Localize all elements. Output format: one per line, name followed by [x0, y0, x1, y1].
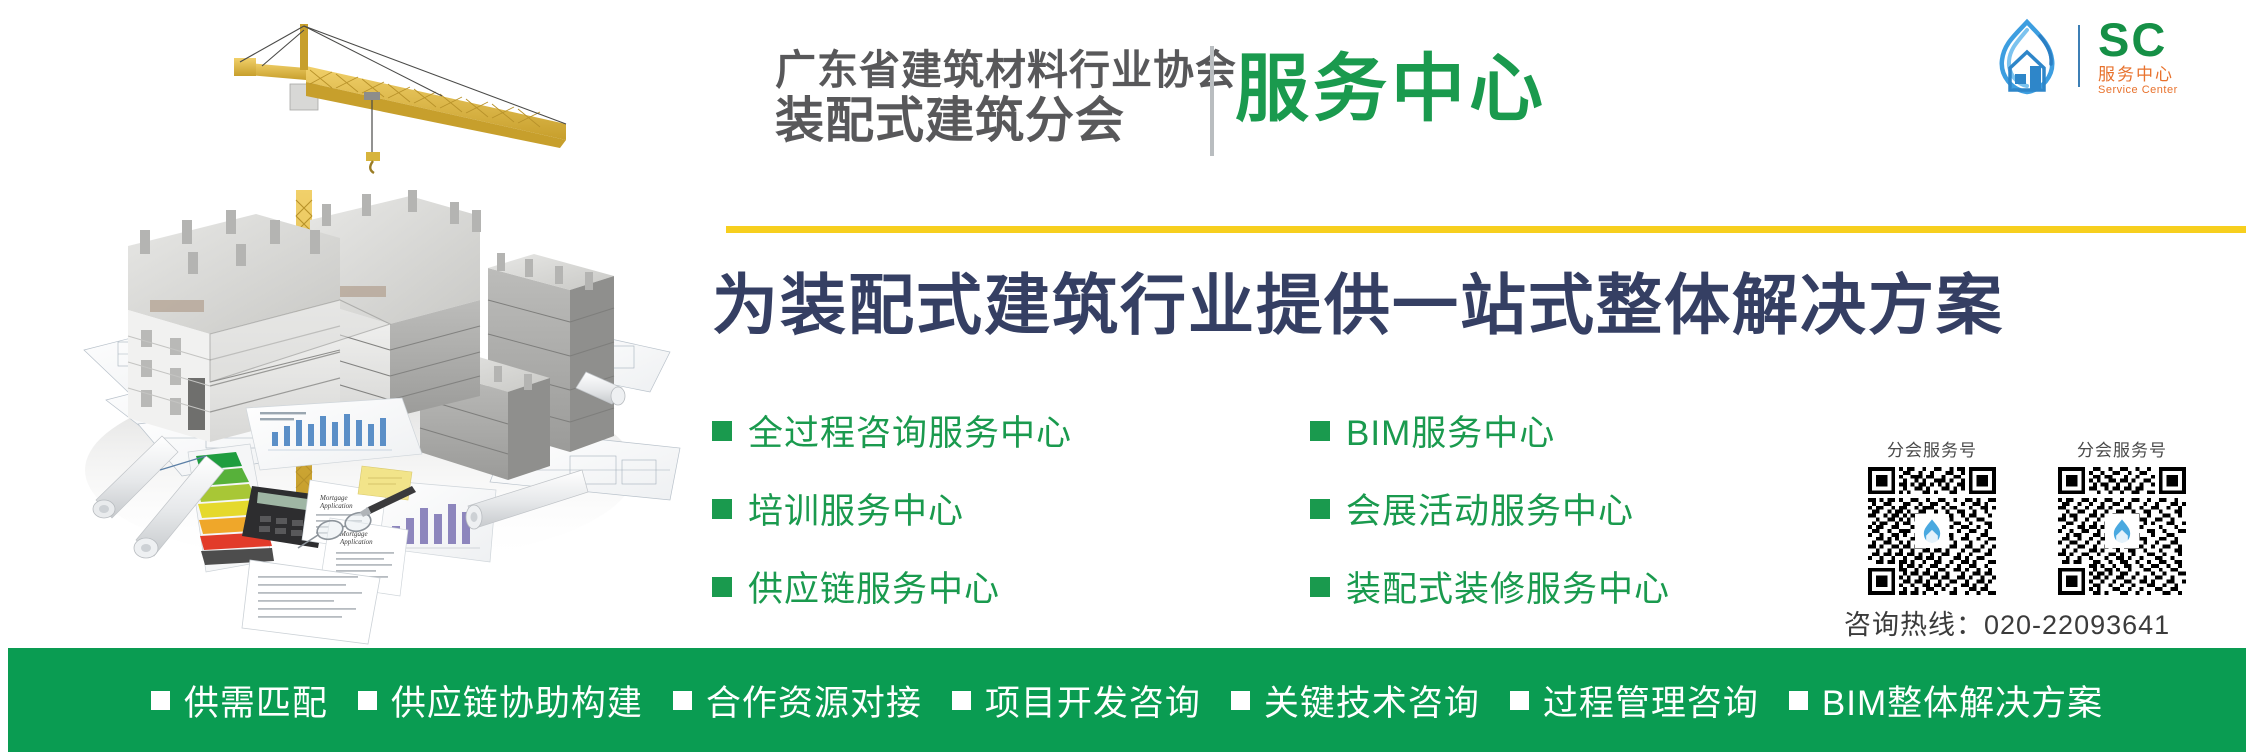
list-item[interactable]: 全过程咨询服务中心 — [712, 405, 1130, 456]
logo-vertical-divider — [2078, 25, 2080, 87]
association-branch-line-2: 装配式建筑分会 — [775, 95, 1185, 148]
service-center-title: 服务中心 — [1235, 48, 1547, 129]
list-item[interactable]: BIM整体解决方案 — [1789, 675, 2103, 726]
square-bullet-icon — [151, 691, 170, 710]
flame-house-icon — [1984, 16, 2070, 96]
svg-text:Application: Application — [319, 502, 353, 510]
association-service-center-banner: Mortgage Application Mortgage Applicatio… — [0, 0, 2246, 752]
bar-label: 关键技术咨询 — [1264, 675, 1480, 726]
service-label: 培训服务中心 — [748, 483, 964, 534]
list-item[interactable]: 关键技术咨询 — [1231, 675, 1480, 726]
bar-label: 过程管理咨询 — [1543, 675, 1759, 726]
hotline-text: 咨询热线：020-22093641 — [1838, 603, 2238, 642]
list-item[interactable]: 供应链协助构建 — [358, 675, 643, 726]
square-bullet-icon — [1310, 499, 1330, 519]
list-item[interactable]: 过程管理咨询 — [1510, 675, 1759, 726]
hero-construction-illustration: Mortgage Application Mortgage Applicatio… — [10, 0, 690, 645]
svg-text:Mortgage: Mortgage — [319, 494, 348, 502]
square-bullet-icon — [1231, 691, 1250, 710]
list-item[interactable]: 项目开发咨询 — [952, 675, 1201, 726]
bar-label: BIM整体解决方案 — [1822, 675, 2103, 726]
square-bullet-icon — [358, 691, 377, 710]
square-bullet-icon — [673, 691, 692, 710]
association-name-line-1: 广东省建筑材料行业协会 — [775, 48, 1185, 92]
logo-wordmark: SC 服务中心 Service Center — [2098, 16, 2178, 96]
yellow-divider-rule — [726, 226, 2246, 233]
service-label: BIM服务中心 — [1346, 405, 1555, 456]
qr-code-image[interactable] — [2058, 467, 2186, 595]
service-list-right: BIM服务中心 会展活动服务中心 装配式装修服务中心 — [1130, 405, 1550, 612]
square-bullet-icon — [1789, 691, 1808, 710]
bar-label: 供应链协助构建 — [391, 675, 643, 726]
square-bullet-icon — [712, 577, 732, 597]
list-item[interactable]: BIM服务中心 — [1310, 405, 1550, 456]
list-item[interactable]: 会展活动服务中心 — [1310, 483, 1550, 534]
square-bullet-icon — [1310, 421, 1330, 441]
bar-label: 合作资源对接 — [706, 675, 922, 726]
association-name-block: 广东省建筑材料行业协会 装配式建筑分会 — [775, 48, 1185, 148]
title-vertical-divider — [1210, 46, 1214, 156]
qr-code-image[interactable] — [1868, 467, 1996, 595]
square-bullet-icon — [712, 499, 732, 519]
square-bullet-icon — [1310, 577, 1330, 597]
svg-text:Application: Application — [339, 538, 373, 546]
service-label: 会展活动服务中心 — [1346, 483, 1634, 534]
page-headline: 为装配式建筑行业提供一站式整体解决方案 — [712, 252, 2004, 348]
square-bullet-icon — [952, 691, 971, 710]
logo-sc-abbr: SC — [2098, 16, 2178, 63]
service-label: 装配式装修服务中心 — [1346, 561, 1670, 612]
bar-label: 供需匹配 — [184, 675, 328, 726]
sc-logo[interactable]: SC 服务中心 Service Center — [1984, 14, 2234, 98]
hero-construction-image: Mortgage Application Mortgage Applicatio… — [10, 0, 690, 645]
flame-house-icon — [1915, 514, 1949, 548]
square-bullet-icon — [712, 421, 732, 441]
list-item[interactable]: 供需匹配 — [151, 675, 328, 726]
square-bullet-icon — [1510, 691, 1529, 710]
qr-cell[interactable]: 分会服务号 — [2042, 436, 2202, 595]
service-list-left: 全过程咨询服务中心 培训服务中心 供应链服务中心 — [710, 405, 1130, 612]
logo-sc-english: Service Center — [2098, 85, 2178, 96]
bar-label: 项目开发咨询 — [985, 675, 1201, 726]
qr-cell[interactable]: 分会服务号 — [1852, 436, 2012, 595]
service-label: 供应链服务中心 — [748, 561, 1000, 612]
qr-contact-block: 分会服务号 — [1838, 436, 2238, 642]
bottom-service-bar: 供需匹配 供应链协助构建 合作资源对接 项目开发咨询 关键技术咨询 过程管理咨询… — [8, 648, 2246, 752]
list-item[interactable]: 合作资源对接 — [673, 675, 922, 726]
service-label: 全过程咨询服务中心 — [748, 405, 1072, 456]
list-item[interactable]: 装配式装修服务中心 — [1310, 561, 1550, 612]
list-item[interactable]: 供应链服务中心 — [712, 561, 1130, 612]
qr-caption: 分会服务号 — [2077, 436, 2167, 461]
logo-sc-chinese: 服务中心 — [2098, 66, 2178, 83]
list-item[interactable]: 培训服务中心 — [712, 483, 1130, 534]
qr-code-row: 分会服务号 — [1838, 436, 2238, 595]
service-center-lists: 全过程咨询服务中心 培训服务中心 供应链服务中心 BIM服务中心 — [710, 405, 1790, 612]
qr-caption: 分会服务号 — [1887, 436, 1977, 461]
flame-house-icon — [2105, 514, 2139, 548]
